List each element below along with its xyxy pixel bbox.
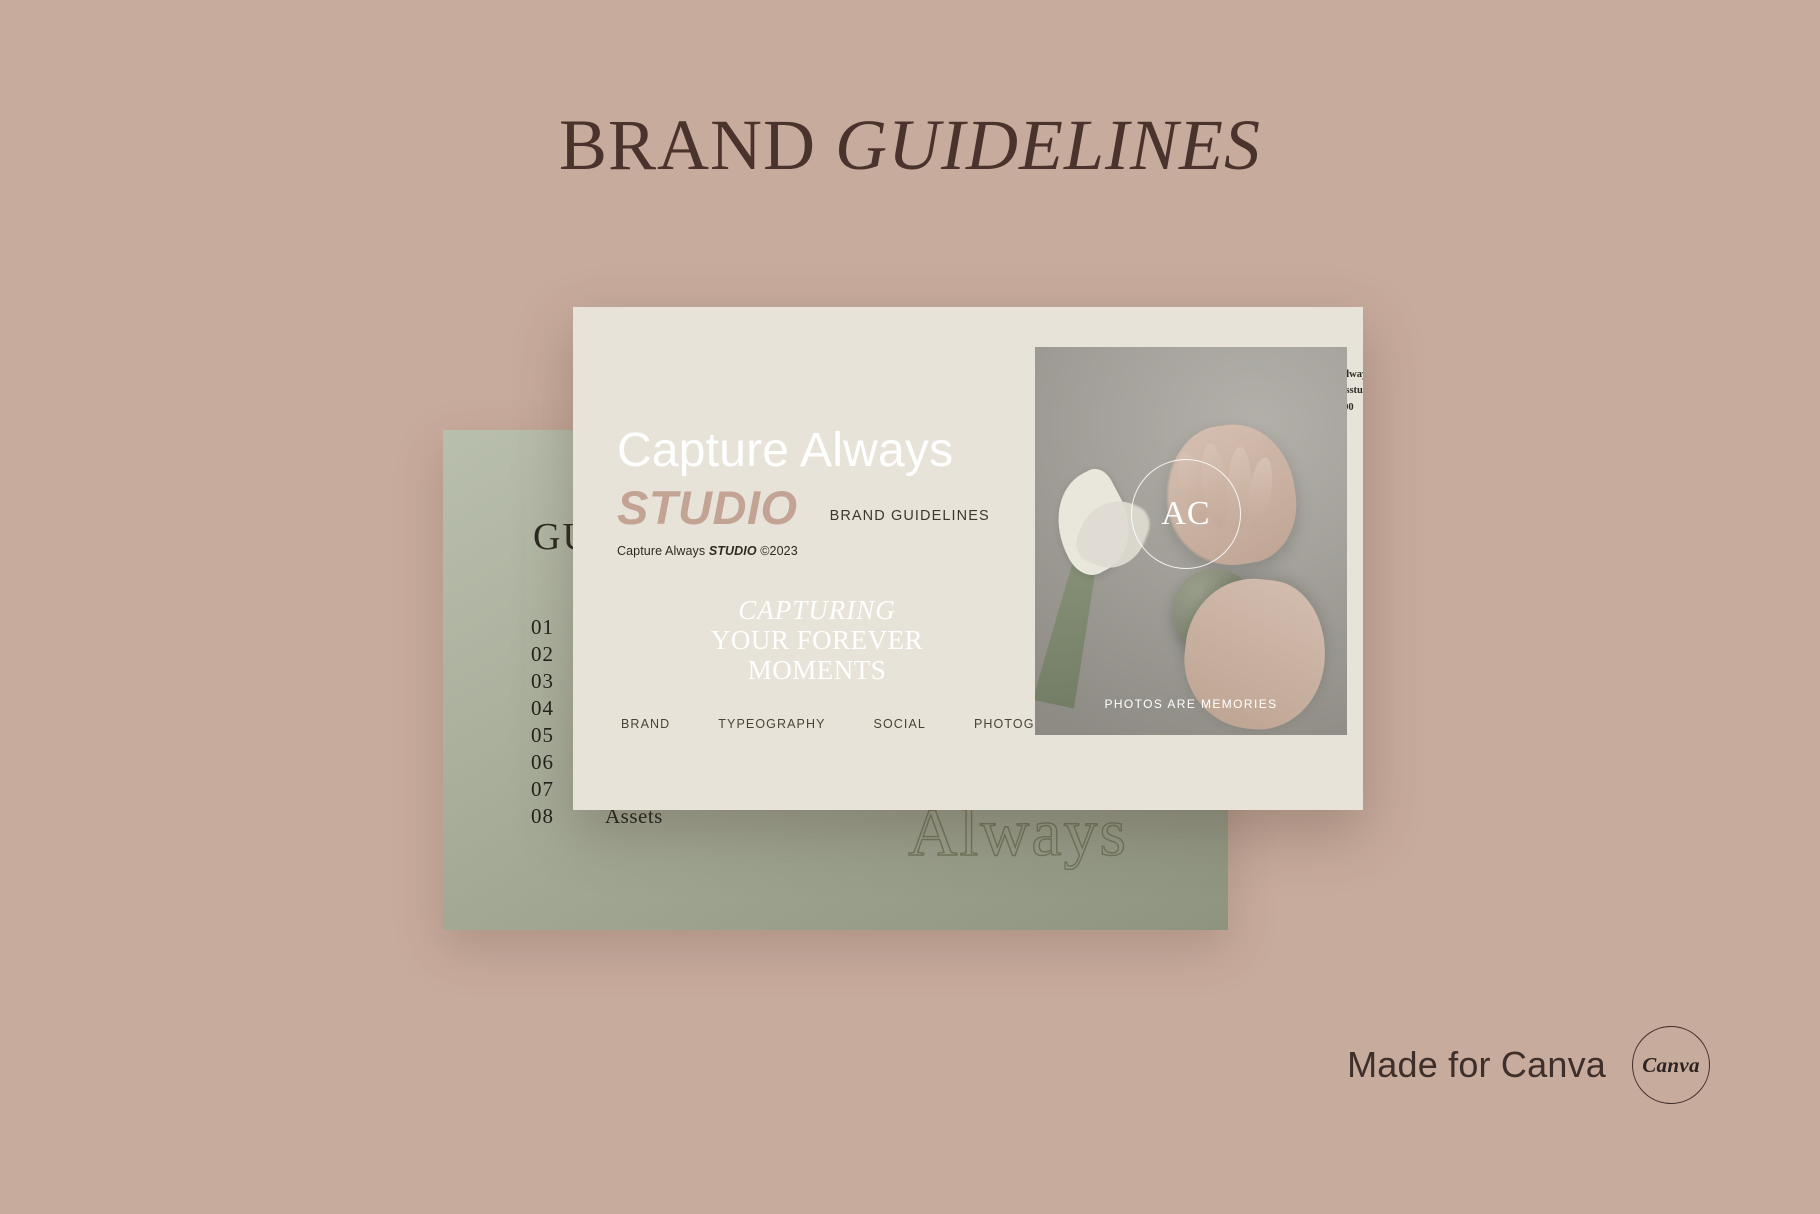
monogram-logo: AC [1131, 459, 1241, 569]
copyright-prefix: Capture Always [617, 544, 709, 558]
footer: Made for Canva Canva [1347, 1026, 1710, 1104]
page-title-regular: BRAND [559, 105, 816, 185]
nav-item-typeography[interactable]: TYPEOGRAPHY [718, 717, 825, 731]
canva-wordmark: Canva [1642, 1053, 1700, 1078]
tagline-line-2: YOUR FOREVER [617, 625, 1017, 655]
copyright-bold: STUDIO [709, 544, 757, 558]
footer-text: Made for Canva [1347, 1044, 1606, 1086]
nav-item-brand[interactable]: BRAND [621, 717, 670, 731]
card-nav: BRAND TYPEOGRAPHY SOCIAL PHOTOGRAPHY [621, 717, 1083, 731]
nav-item-social[interactable]: SOCIAL [874, 717, 926, 731]
copyright-line: Capture Always STUDIO ©2023 [617, 544, 798, 558]
page-title: BRAND GUIDELINES [0, 104, 1820, 187]
front-card[interactable]: Made by Capture Always Studio @forevercr… [573, 307, 1363, 810]
tagline: CAPTURING YOUR FOREVER MOMENTS [617, 595, 1017, 686]
cover-photo: AC PHOTOS ARE MEMORIES [1035, 347, 1347, 735]
poster-stage: BRAND GUIDELINES GUIDELINES 01 02 03 04 [0, 0, 1820, 1214]
tagline-line-1: CAPTURING [617, 595, 1017, 625]
brand-guidelines-tag: BRAND GUIDELINES [830, 508, 990, 531]
photo-caption: PHOTOS ARE MEMORIES [1035, 697, 1347, 711]
page-title-italic: GUIDELINES [835, 105, 1261, 185]
brand-studio-row: STUDIO BRAND GUIDELINES [617, 484, 990, 531]
canva-logo-badge[interactable]: Canva [1632, 1026, 1710, 1104]
tagline-line-3: MOMENTS [617, 655, 1017, 685]
brand-name: Capture Always [617, 427, 953, 475]
copyright-suffix: ©2023 [757, 544, 798, 558]
brand-studio-word: STUDIO [617, 484, 798, 531]
